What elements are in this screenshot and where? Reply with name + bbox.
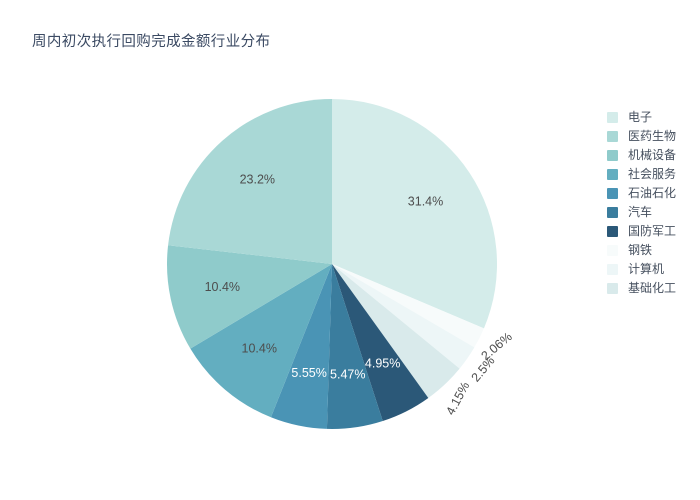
pie-slice-label: 4.15% — [443, 379, 472, 417]
chart-container: 周内初次执行回购完成金额行业分布 31.4%2.06%2.5%4.15%4.95… — [0, 0, 700, 500]
legend-item-label: 钢铁 — [628, 241, 652, 260]
legend-item[interactable]: 计算机 — [607, 260, 697, 279]
pie-slice-label: 23.2% — [240, 173, 275, 187]
pie-slice-label: 4.95% — [365, 356, 400, 370]
pie-slice-label: 5.55% — [291, 366, 326, 380]
legend-swatch-icon — [607, 207, 618, 218]
legend-item-label: 基础化工 — [628, 279, 676, 298]
legend-item-label: 国防军工 — [628, 222, 676, 241]
pie-slice-label: 10.4% — [205, 280, 240, 294]
legend-item[interactable]: 基础化工 — [607, 279, 697, 298]
chart-legend: 电子医药生物机械设备社会服务石油石化汽车国防军工钢铁计算机基础化工 — [607, 108, 697, 298]
legend-item[interactable]: 医药生物 — [607, 127, 697, 146]
legend-item[interactable]: 社会服务 — [607, 165, 697, 184]
pie-slice-label: 31.4% — [408, 194, 443, 208]
legend-swatch-icon — [607, 131, 618, 142]
legend-item[interactable]: 钢铁 — [607, 241, 697, 260]
pie-slice-label: 5.47% — [330, 367, 365, 381]
legend-item[interactable]: 汽车 — [607, 203, 697, 222]
legend-swatch-icon — [607, 188, 618, 199]
legend-item[interactable]: 石油石化 — [607, 184, 697, 203]
legend-item[interactable]: 电子 — [607, 108, 697, 127]
legend-item[interactable]: 国防军工 — [607, 222, 697, 241]
legend-swatch-icon — [607, 169, 618, 180]
legend-item-label: 医药生物 — [628, 127, 676, 146]
legend-swatch-icon — [607, 226, 618, 237]
legend-swatch-icon — [607, 245, 618, 256]
legend-item-label: 电子 — [628, 108, 652, 127]
legend-item[interactable]: 机械设备 — [607, 146, 697, 165]
legend-item-label: 机械设备 — [628, 146, 676, 165]
pie-chart: 31.4%2.06%2.5%4.15%4.95%5.47%5.55%10.4%1… — [0, 0, 700, 500]
pie-slice-label: 10.4% — [242, 342, 277, 356]
legend-item-label: 石油石化 — [628, 184, 676, 203]
legend-swatch-icon — [607, 112, 618, 123]
legend-item-label: 社会服务 — [628, 165, 676, 184]
legend-swatch-icon — [607, 150, 618, 161]
legend-swatch-icon — [607, 283, 618, 294]
legend-item-label: 汽车 — [628, 203, 652, 222]
legend-swatch-icon — [607, 264, 618, 275]
legend-item-label: 计算机 — [628, 260, 664, 279]
